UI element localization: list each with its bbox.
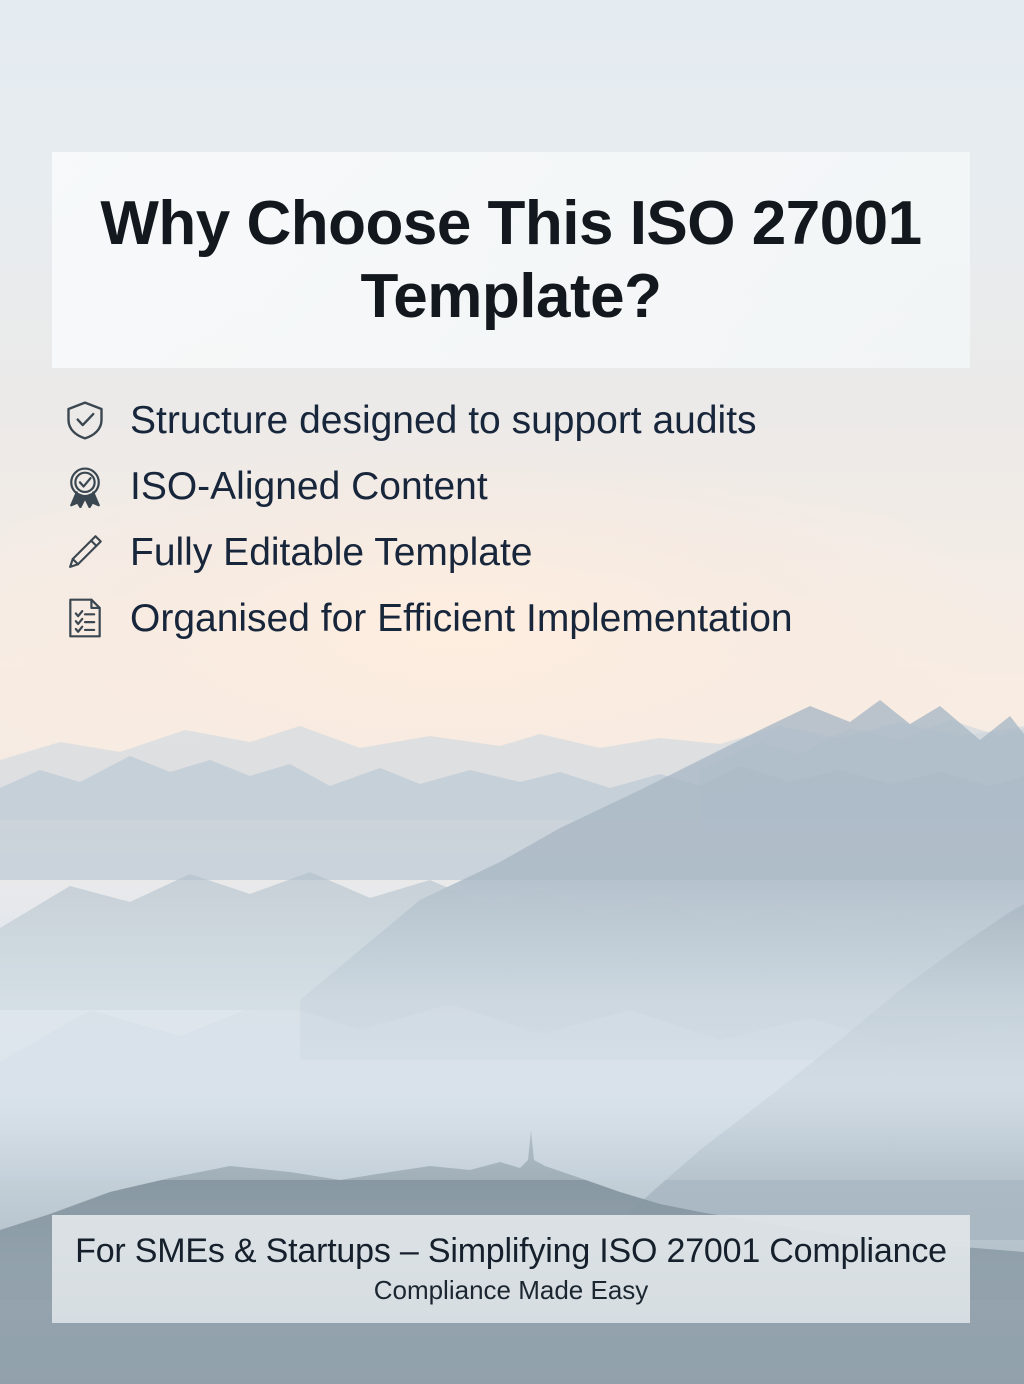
feature-label: ISO-Aligned Content <box>130 467 488 506</box>
shield-check-icon <box>62 397 108 443</box>
checklist-document-icon <box>62 595 108 641</box>
feature-item-audits: Structure designed to support audits <box>62 392 962 448</box>
feature-item-editable: Fully Editable Template <box>62 524 962 580</box>
caption-headline: For SMEs & Startups – Simplifying ISO 27… <box>75 1232 947 1271</box>
award-badge-icon <box>62 463 108 509</box>
feature-item-organised: Organised for Efficient Implementation <box>62 590 962 646</box>
feature-list: Structure designed to support audits ISO… <box>62 392 962 646</box>
feature-label: Organised for Efficient Implementation <box>130 599 793 638</box>
caption-panel: For SMEs & Startups – Simplifying ISO 27… <box>52 1215 970 1323</box>
poster-canvas: Why Choose This ISO 27001 Template? Stru… <box>0 0 1024 1384</box>
feature-label: Structure designed to support audits <box>130 401 757 440</box>
feature-label: Fully Editable Template <box>130 533 533 572</box>
page-title: Why Choose This ISO 27001 Template? <box>52 187 970 333</box>
feature-item-iso-aligned: ISO-Aligned Content <box>62 458 962 514</box>
pencil-icon <box>62 529 108 575</box>
title-panel: Why Choose This ISO 27001 Template? <box>52 152 970 368</box>
caption-tagline: Compliance Made Easy <box>374 1275 649 1306</box>
